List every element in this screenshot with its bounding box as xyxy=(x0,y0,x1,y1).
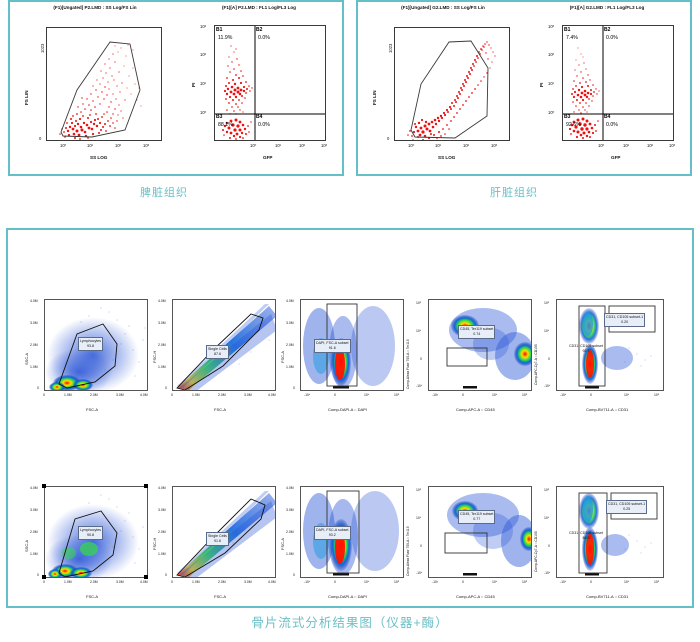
gate-label-single-cells: Single Cells 87.6 xyxy=(206,345,229,359)
x-tick-0: 0 xyxy=(43,580,45,584)
y-axis-label: FS LIN xyxy=(372,90,377,105)
bone-plot-grid: SSC-A 4.0M 3.0M 2.0M 1.0M 0 xyxy=(16,285,688,617)
x-tick-2: 10⁴ xyxy=(492,393,497,397)
y-tick-1: 1.0M xyxy=(158,552,166,556)
y-tick-1: 10¹ xyxy=(548,81,554,86)
x-tick-0: 10⁰ xyxy=(60,143,66,148)
y-tick-0: -10⁴ xyxy=(416,384,422,388)
y-tick-4: 4.0M xyxy=(286,486,294,490)
y-axis-label: FSC-A xyxy=(280,538,285,550)
x-axis-label: FSC-A xyxy=(86,594,98,599)
x-tick-3: 10⁵ xyxy=(654,393,659,397)
y-tick-2: 2.0M xyxy=(158,343,166,347)
y-tick-1: 1.0M xyxy=(158,365,166,369)
bone-row-2: SSC-A 4.0M 3.0M 2.0M 1.0M 0 xyxy=(16,472,688,617)
y-tick-0: 10⁰ xyxy=(548,110,554,115)
plot-frame xyxy=(394,27,510,141)
y-axis-label: FSC-A xyxy=(280,351,285,363)
plot-title: (F1)[A] G2.LMD : FL1 Log/FL3 Log xyxy=(526,5,688,10)
x-tick-3: 10³ xyxy=(669,143,675,148)
y-tick-3: 10³ xyxy=(200,24,206,29)
x-tick-1: 0 xyxy=(590,393,592,397)
x-tick-1: 10¹ xyxy=(435,143,441,148)
y-axis-label: PI xyxy=(191,83,196,87)
x-tick-0: -10³ xyxy=(432,393,438,397)
quadrant-label-b3: B3 xyxy=(564,114,570,120)
x-tick-2: 10² xyxy=(115,143,121,148)
y-tick-0: -10⁴ xyxy=(416,571,422,575)
y-tick-0: 10⁰ xyxy=(200,110,206,115)
gate-value: 0.20 xyxy=(606,320,643,325)
x-tick-0: -10³ xyxy=(432,580,438,584)
y-tick-2: 2.0M xyxy=(286,530,294,534)
x-tick-3: 10⁵ xyxy=(654,580,659,584)
y-tick-1: 0 xyxy=(548,544,550,548)
y-tick-1: 1.0M xyxy=(30,552,38,556)
y-tick-1: 1.0M xyxy=(286,365,294,369)
scatter-canvas xyxy=(395,28,510,141)
y-tick-2: 2.0M xyxy=(30,530,38,534)
x-tick-0: 0 xyxy=(171,580,173,584)
x-tick-2: 10⁴ xyxy=(624,580,629,584)
x-tick-1: 10¹ xyxy=(87,143,93,148)
gate-label-dapi: DAPI, FSC-A subset 93.2 xyxy=(314,526,351,540)
x-tick-0: 0 xyxy=(43,393,45,397)
gate-value: 91.6 xyxy=(208,539,227,544)
quadrant-label-b2: B2 xyxy=(256,27,262,33)
y-tick-4: 4.0M xyxy=(30,299,38,303)
quadrant-value-b4: 0.0% xyxy=(258,122,270,128)
gate-label-cd45-ter119: CD45, Ter119 subset 0.77 xyxy=(458,510,495,524)
x-tick-3: 10³ xyxy=(491,143,497,148)
x-tick-2: 2.0M xyxy=(90,580,98,584)
quadrant-label-b4: B4 xyxy=(604,114,610,120)
y-tick-3: 3.0M xyxy=(158,321,166,325)
x-tick-1: 1.0M xyxy=(192,580,200,584)
x-tick-2: 10⁴ xyxy=(364,393,369,397)
y-tick-2: 10² xyxy=(548,52,554,57)
x-tick-1: 0 xyxy=(334,393,336,397)
y-tick-3: 10³ xyxy=(548,24,554,29)
y-axis-label: SSC-A xyxy=(24,353,29,365)
x-tick-2: 2.0M xyxy=(218,580,226,584)
plot-r1-cd31-cd105: Comp-APC-Cy7-A :: CD105 10⁵ 10⁴ 0 -10⁴ xyxy=(528,285,688,430)
y-tick-2: 2.0M xyxy=(30,343,38,347)
y-axis-label: FSC-H xyxy=(152,351,157,363)
y-axis-label: PI xyxy=(539,83,544,87)
y-tick-2: 2.0M xyxy=(286,343,294,347)
y-tick-4: 4.0M xyxy=(286,299,294,303)
gate-label-lymphocytes: Lymphocytes 90.8 xyxy=(78,526,103,540)
y-axis-label: SSC-A xyxy=(24,540,29,552)
plot-frame xyxy=(46,27,162,141)
gate-label-cd31-cd105-subset-1: CD31, CD105 subset-1 0.25 xyxy=(606,500,647,514)
density-canvas xyxy=(429,300,532,391)
x-tick-1: 1.0M xyxy=(192,393,200,397)
y-tick-3: 3.0M xyxy=(30,321,38,325)
x-tick-1: 1.0M xyxy=(64,393,72,397)
x-axis-label: GFP xyxy=(611,155,620,160)
x-tick-0: 10⁰ xyxy=(598,143,604,148)
y-axis-label: Comp-APC-Cy7-A :: CD105 xyxy=(534,531,538,572)
y-tick-3: 3.0M xyxy=(286,321,294,325)
x-axis-label: FSC-A xyxy=(214,594,226,599)
x-tick-0: 10⁰ xyxy=(250,143,256,148)
y-tick-0: 0 xyxy=(293,573,295,577)
gate-label-cd45-ter119: CD45, Ter119 subset 0.74 xyxy=(458,325,495,339)
bottom-caption-wrap: 骨片流式分析结果图（仪器+酶） xyxy=(0,612,700,632)
x-tick-3: 3.0M xyxy=(116,393,124,397)
bone-row-1: SSC-A 4.0M 3.0M 2.0M 1.0M 0 xyxy=(16,285,688,430)
gate-value: 91.6 xyxy=(316,346,349,351)
x-tick-1: 1.0M xyxy=(64,580,72,584)
y-tick-1: 0 xyxy=(420,357,422,361)
y-axis-label: FS LIN xyxy=(24,90,29,105)
y-tick-2: 10⁴ xyxy=(544,329,549,333)
caption-bone-flow: 骨片流式分析结果图（仪器+酶） xyxy=(251,616,448,630)
gate-label-cd31-cd105-subset: CD31, CD105 subset 92.7 xyxy=(568,343,604,355)
quadrant-value-b1: 7.4% xyxy=(566,35,578,41)
y-tick-2: 10⁴ xyxy=(416,329,421,333)
x-tick-2: 10² xyxy=(647,143,653,148)
quadrant-value-b3: 88.1% xyxy=(218,122,233,128)
gate-value: 93.2 xyxy=(316,533,349,538)
gate-label-cd31-cd105-subset: CD31, CD105 subset 88.9 xyxy=(568,530,604,542)
y-tick-3: 3.0M xyxy=(286,508,294,512)
x-tick-3: 3.0M xyxy=(244,580,252,584)
quadrant-value-b2: 0.0% xyxy=(258,35,270,41)
x-tick-1: 0 xyxy=(462,580,464,584)
y-tick-0: 0 xyxy=(39,136,41,141)
y-tick-1: 0 xyxy=(420,544,422,548)
y-tick-1: 0 xyxy=(548,357,550,361)
y-tick-4: 4.0M xyxy=(158,486,166,490)
x-axis-label: FSC-A xyxy=(86,407,98,412)
x-axis-label: Comp-APC-A :: CD45 xyxy=(456,594,495,599)
selection-handle-bl[interactable] xyxy=(42,575,46,579)
y-tick-1: 1.0M xyxy=(286,552,294,556)
x-tick-0: -10⁴ xyxy=(560,393,566,397)
quadrant-label-b2: B2 xyxy=(604,27,610,33)
y-tick-2: 10⁴ xyxy=(416,516,421,520)
y-tick-3: 10⁵ xyxy=(416,488,421,492)
x-tick-0: 0 xyxy=(171,393,173,397)
x-axis-label: GFP xyxy=(263,155,272,160)
y-tick-4: 4.0M xyxy=(158,299,166,303)
quadrant-label-b1: B1 xyxy=(216,27,222,33)
quadrant-label-b3: B3 xyxy=(216,114,222,120)
y-tick-0: -10⁴ xyxy=(544,384,550,388)
x-tick-0: -10⁴ xyxy=(304,393,310,397)
x-tick-3: 3.0M xyxy=(244,393,252,397)
quadrant-value-b1: 11.9% xyxy=(218,35,232,41)
x-tick-0: 10⁰ xyxy=(408,143,414,148)
plot-r2-cd31-cd105: Comp-APC-Cy7-A :: CD105 10⁵ 10⁴ 0 -10⁴ xyxy=(528,472,688,617)
y-axis-label: Comp-Alexa Fluor 700-A :: Ter119 xyxy=(406,339,410,389)
x-tick-3: 10³ xyxy=(143,143,149,148)
caption-liver: 肝脏组织 xyxy=(490,184,538,200)
y-tick-0: -10⁴ xyxy=(544,571,550,575)
top-captions: 脾脏组织 肝脏组织 xyxy=(0,184,700,210)
x-tick-2: 10² xyxy=(463,143,469,148)
y-tick-3: 10⁵ xyxy=(416,301,421,305)
y-axis-label: FSC-H xyxy=(152,538,157,550)
quadrant-label-b1: B1 xyxy=(564,27,570,33)
x-tick-3: 3.0M xyxy=(116,580,124,584)
y-tick-0: 0 xyxy=(37,386,39,390)
panel-bone-flow: SSC-A 4.0M 3.0M 2.0M 1.0M 0 xyxy=(6,228,694,608)
y-tick-1: 10¹ xyxy=(200,81,206,86)
x-axis-label: Comp-DAPI-A :: DAPI xyxy=(328,407,367,412)
y-tick-3: 10⁵ xyxy=(544,301,549,305)
x-axis-label: Comp-BV711-A :: CD31 xyxy=(586,594,628,599)
y-tick-0: 0 xyxy=(293,386,295,390)
gate-label-lymphocytes: Lymphocytes 93.8 xyxy=(78,337,103,351)
x-tick-2: 10⁴ xyxy=(492,580,497,584)
x-tick-1: 0 xyxy=(334,580,336,584)
y-tick-1023: 1023 xyxy=(40,44,45,53)
quadrant-value-b2: 0.0% xyxy=(606,35,618,41)
plot-title: (F1)[Ungated] G2.LMD : SS Log/FS Lin xyxy=(360,5,526,10)
y-tick-3: 3.0M xyxy=(30,508,38,512)
quadrant-value-b3: 92.6% xyxy=(566,122,581,128)
gate-label-single-cells: Single Cells 91.6 xyxy=(206,532,229,546)
y-tick-0: 0 xyxy=(165,386,167,390)
plot-spleen-fl1-fl3: (F1)[A] P2.LMD : FL1 Log/FL3 Log PI 10³ … xyxy=(178,5,340,173)
x-tick-2: 10² xyxy=(299,143,305,148)
x-axis-label: SS LOG xyxy=(438,155,455,160)
y-tick-0: 0 xyxy=(165,573,167,577)
top-panel-group: (F1)[Ungated] P2.LMD : SS Log/FS Lin FS … xyxy=(0,0,700,182)
x-axis-label: Comp-BV711-A :: CD31 xyxy=(586,407,628,412)
plot-liver-fl1-fl3: (F1)[A] G2.LMD : FL1 Log/FL3 Log PI 10³ … xyxy=(526,5,688,173)
y-tick-3: 10⁵ xyxy=(544,488,549,492)
x-axis-label: Comp-DAPI-A :: DAPI xyxy=(328,594,367,599)
caption-spleen: 脾脏组织 xyxy=(140,184,188,200)
x-tick-0: -10⁴ xyxy=(560,580,566,584)
panel-liver: (F1)[Ungated] G2.LMD : SS Log/FS Lin FS … xyxy=(356,0,692,176)
plot-title: (F1)[A] P2.LMD : FL1 Log/FL3 Log xyxy=(178,5,340,10)
x-tick-0: -10⁴ xyxy=(304,580,310,584)
gate-value: 0.74 xyxy=(460,332,493,337)
x-tick-1: 0 xyxy=(590,580,592,584)
x-axis-label: Comp-APC-A :: CD45 xyxy=(456,407,495,412)
y-tick-2: 2.0M xyxy=(158,530,166,534)
gate-label-dapi: DAPI, FSC-A subset 91.6 xyxy=(314,339,351,353)
x-tick-1: 10¹ xyxy=(275,143,281,148)
y-tick-2: 10² xyxy=(200,52,206,57)
x-tick-3: 10⁵ xyxy=(394,393,399,397)
y-axis-label: Comp-Alexa Fluor 700-A :: Ter119 xyxy=(406,526,410,576)
y-tick-0: 0 xyxy=(37,573,39,577)
plot-frame xyxy=(428,299,532,391)
scatter-canvas xyxy=(47,28,162,141)
y-tick-4: 4.0M xyxy=(30,486,38,490)
y-axis-label: Comp-APC-Cy7-A :: CD105 xyxy=(534,344,538,385)
plot-title: (F1)[Ungated] P2.LMD : SS Log/FS Lin xyxy=(12,5,178,10)
plot-spleen-sslog-fslin: (F1)[Ungated] P2.LMD : SS Log/FS Lin FS … xyxy=(12,5,178,173)
x-tick-2: 10⁴ xyxy=(364,580,369,584)
gate-value: 93.8 xyxy=(80,344,101,349)
y-tick-2: 10⁴ xyxy=(544,516,549,520)
y-tick-0: 0 xyxy=(387,136,389,141)
x-tick-3: 10⁵ xyxy=(522,580,527,584)
gate-value: 90.8 xyxy=(80,533,101,538)
x-axis-label: FSC-A xyxy=(214,407,226,412)
x-axis-label: SS LOG xyxy=(90,155,107,160)
x-tick-3: 10³ xyxy=(321,143,327,148)
gate-label-cd31-cd105-subset-1: CD31, CD105 subset-1 0.20 xyxy=(604,313,645,327)
quadrant-value-b4: 0.0% xyxy=(606,122,618,128)
panel-spleen: (F1)[Ungated] P2.LMD : SS Log/FS Lin FS … xyxy=(8,0,344,176)
x-tick-2: 10⁴ xyxy=(624,393,629,397)
plot-frame xyxy=(428,486,532,578)
quadrant-label-b4: B4 xyxy=(256,114,262,120)
gate-value: 92.7 xyxy=(569,349,603,354)
x-tick-2: 2.0M xyxy=(90,393,98,397)
y-tick-3: 3.0M xyxy=(158,508,166,512)
y-tick-1023: 1023 xyxy=(388,44,393,53)
gate-value: 0.77 xyxy=(460,517,493,522)
x-tick-1: 10¹ xyxy=(623,143,629,148)
density-canvas xyxy=(429,487,532,578)
x-tick-2: 2.0M xyxy=(218,393,226,397)
x-tick-3: 10⁵ xyxy=(522,393,527,397)
x-tick-3: 10⁵ xyxy=(394,580,399,584)
gate-value: 88.9 xyxy=(569,536,603,541)
figure-root: (F1)[Ungated] P2.LMD : SS Log/FS Lin FS … xyxy=(0,0,700,642)
plot-liver-sslog-fslin: (F1)[Ungated] G2.LMD : SS Log/FS Lin FS … xyxy=(360,5,526,173)
y-tick-1: 1.0M xyxy=(30,365,38,369)
gate-value: 0.25 xyxy=(608,507,645,512)
gate-value: 87.6 xyxy=(208,352,227,357)
x-tick-1: 0 xyxy=(462,393,464,397)
selection-handle-tl[interactable] xyxy=(42,484,46,488)
